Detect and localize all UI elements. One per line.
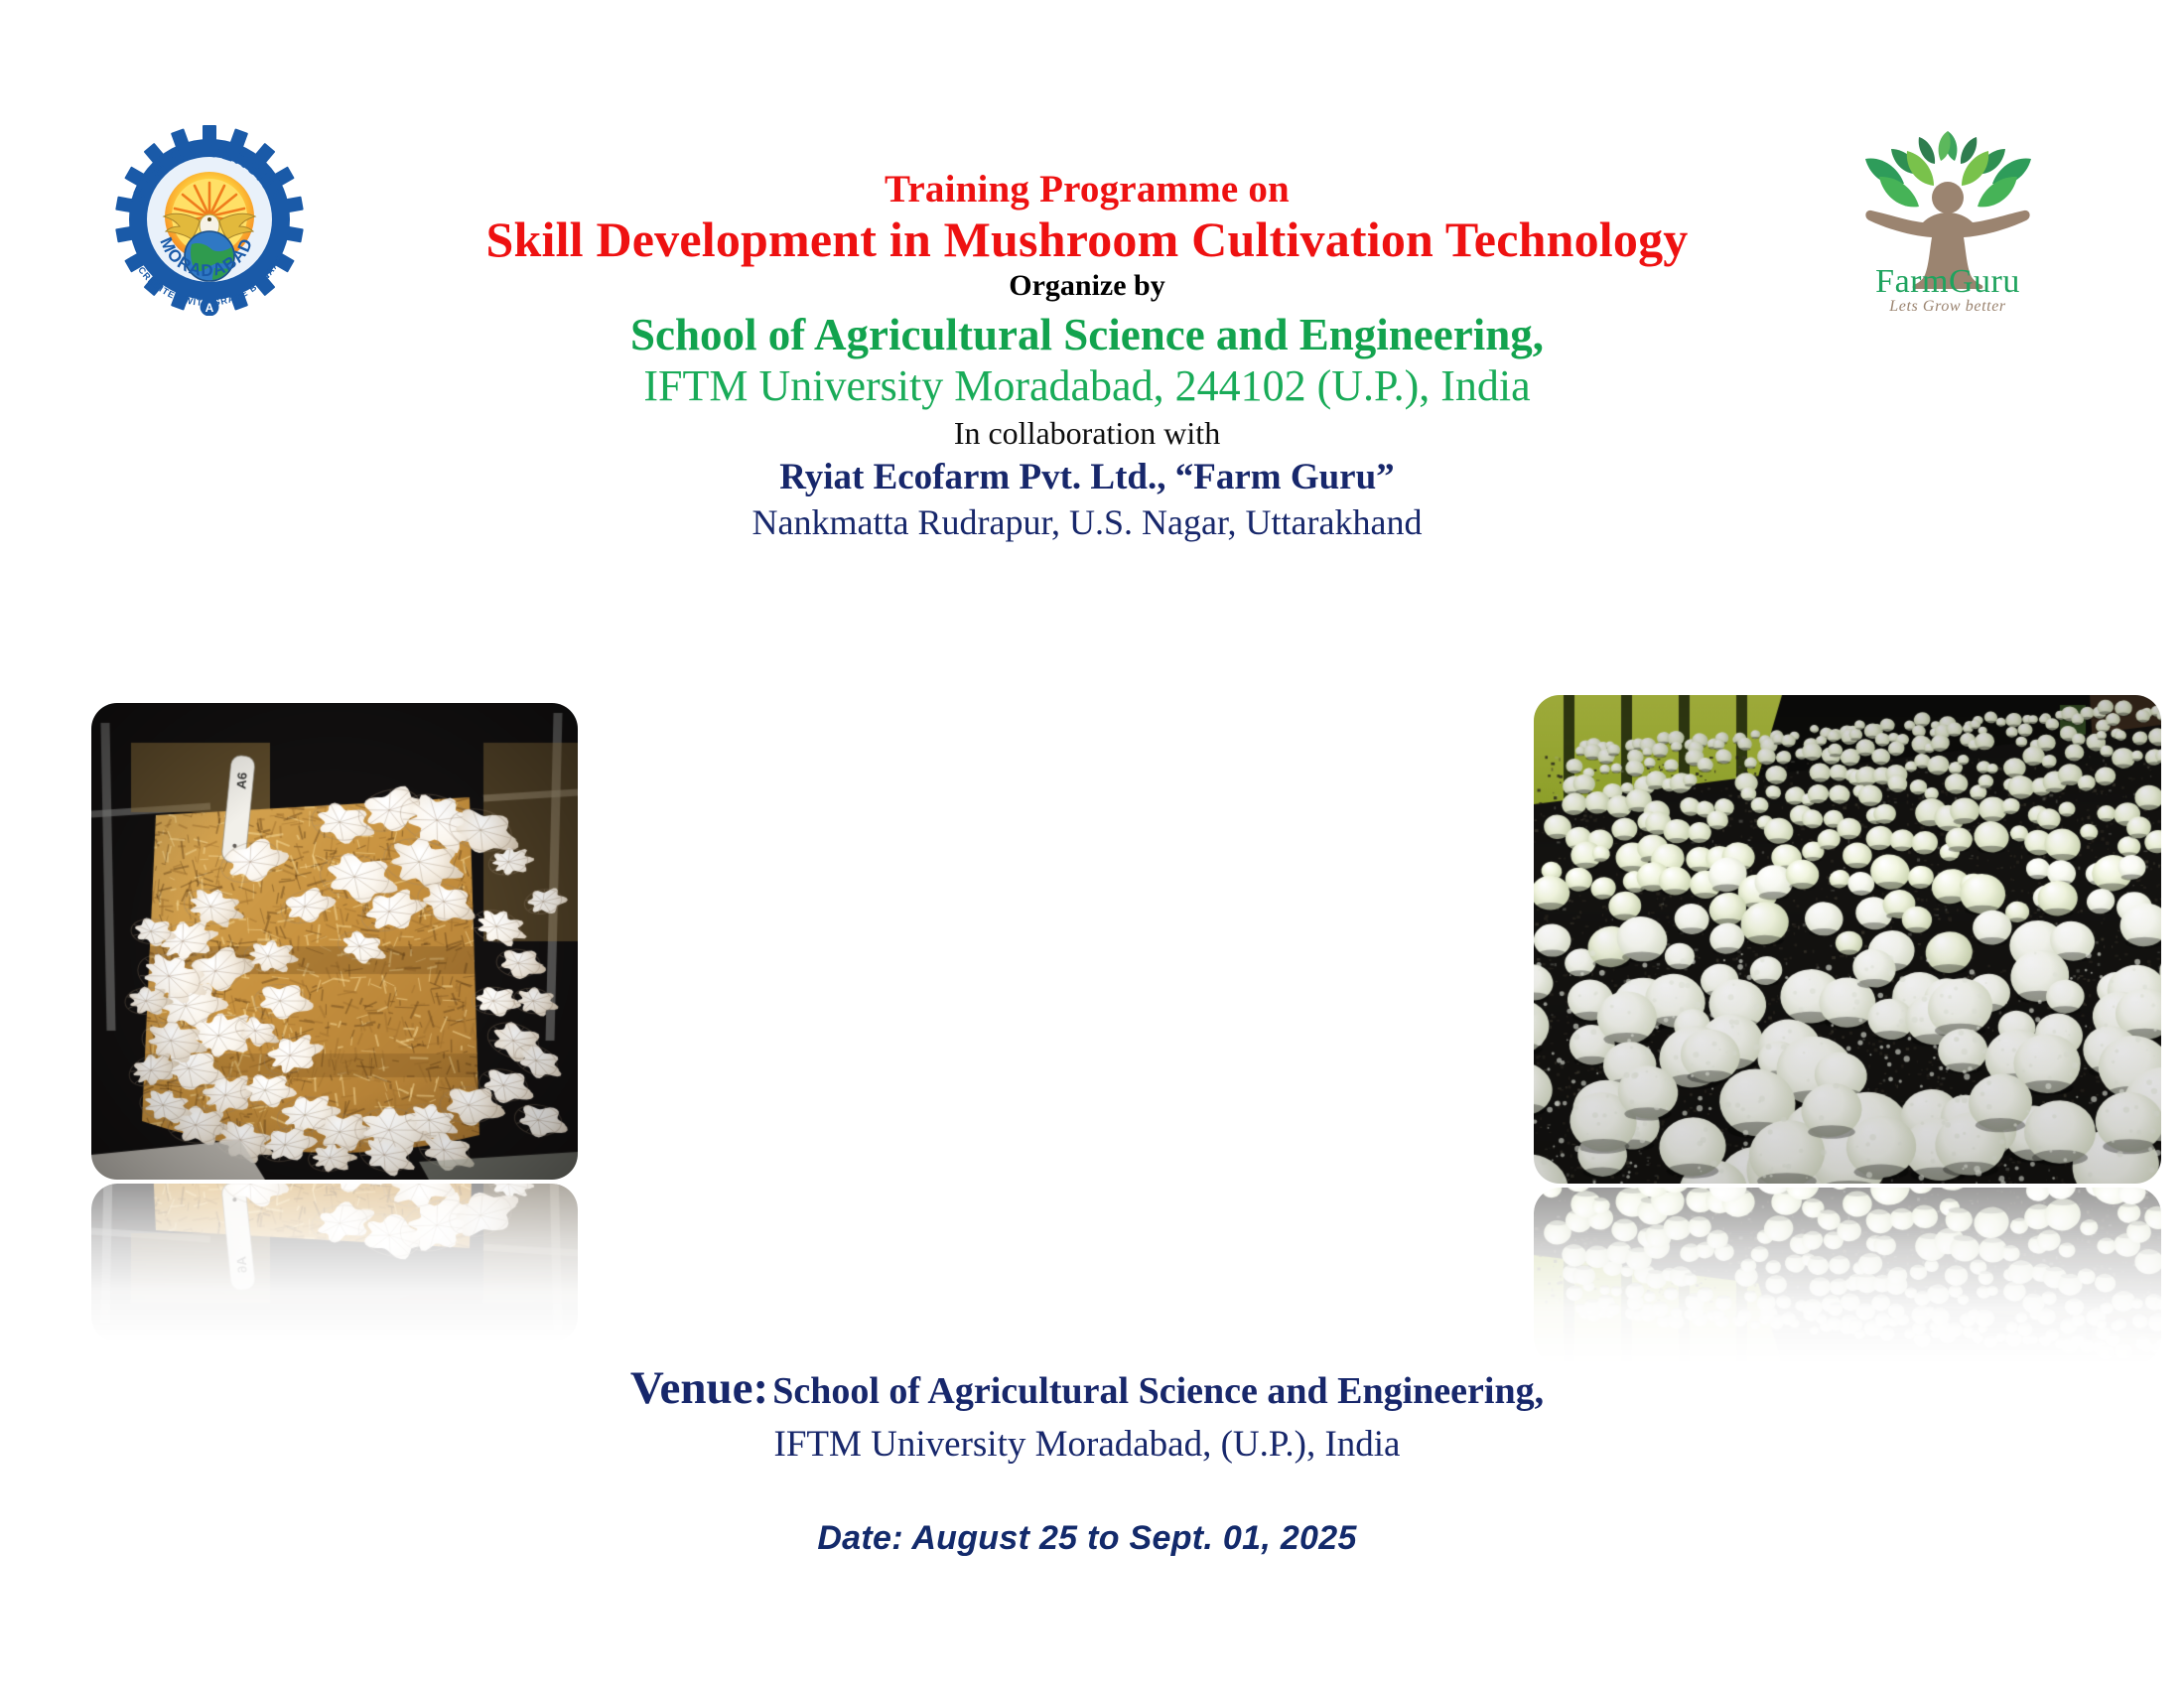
header-text-block: Training Programme on Skill Development … <box>328 169 1846 542</box>
oyster-mushroom-photo-wrap <box>91 703 578 1342</box>
programme-title: Skill Development in Mushroom Cultivatio… <box>328 212 1846 266</box>
venue-line: Venue: School of Agricultural Science an… <box>328 1362 1846 1416</box>
button-mushroom-photo-reflection <box>1534 1188 2161 1364</box>
svg-text:A: A <box>205 301 214 315</box>
poster-header: IFTM UNIVERSITY MORADABAD ACCREDITED WIT… <box>0 0 2184 616</box>
naac-grade-badge: A <box>201 298 219 317</box>
oyster-mushroom-photo <box>91 703 578 1180</box>
collaborating-partner: Ryiat Ecofarm Pvt. Ltd., “Farm Guru” <box>328 458 1846 497</box>
organizer-university: IFTM University Moradabad, 244102 (U.P.)… <box>328 362 1846 410</box>
programme-date: Date: August 25 to Sept. 01, 2025 <box>328 1519 1846 1558</box>
iftm-university-logo: IFTM UNIVERSITY MORADABAD ACCREDITED WIT… <box>107 117 306 316</box>
button-mushroom-photo-wrap <box>1534 695 2161 1364</box>
partner-address: Nankmatta Rudrapur, U.S. Nagar, Uttarakh… <box>328 503 1846 542</box>
venue-address: IFTM University Moradabad, (U.P.), India <box>328 1424 1846 1466</box>
button-mushroom-photo <box>1534 695 2161 1184</box>
venue-label: Venue: <box>630 1362 768 1414</box>
organizer-school: School of Agricultural Science and Engin… <box>328 311 1846 359</box>
programme-prefix: Training Programme on <box>328 169 1846 211</box>
poster-footer: Venue: School of Agricultural Science an… <box>328 1362 1846 1558</box>
venue-value: School of Agricultural Science and Engin… <box>772 1370 1544 1412</box>
farmguru-wordmark: FarmGuru <box>1875 263 2020 300</box>
collaboration-label: In collaboration with <box>328 416 1846 451</box>
organize-by-label: Organize by <box>328 270 1846 302</box>
farmguru-logo: FarmGuru Lets Grow better <box>1832 119 2065 318</box>
oyster-mushroom-photo-reflection <box>91 1184 578 1342</box>
farmguru-tagline: Lets Grow better <box>1888 298 2006 315</box>
